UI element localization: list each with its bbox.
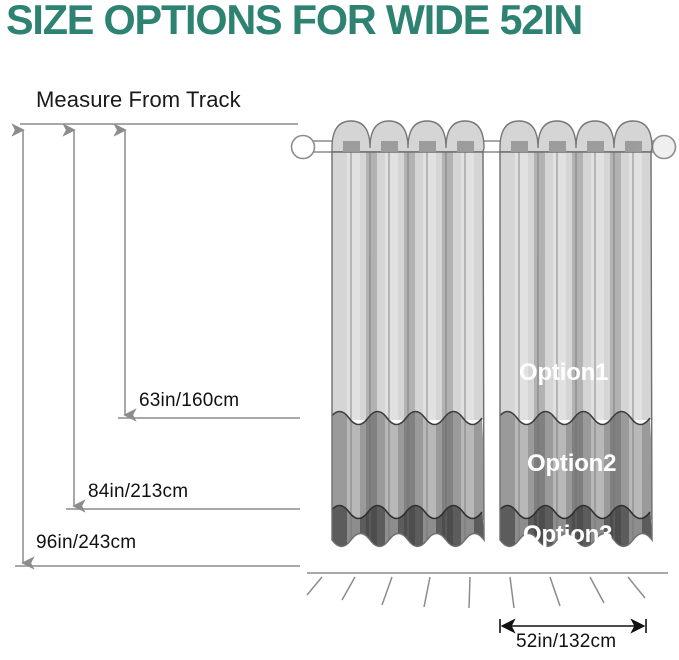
dimension-label-52in-width: 52in/132cm <box>516 631 616 653</box>
dimension-label-63in: 63in/160cm <box>139 390 239 412</box>
dimension-label-84in: 84in/213cm <box>88 481 188 503</box>
curtain-panel-right <box>498 118 655 562</box>
dimension-line-63in <box>118 130 300 418</box>
option-label-3: Option3 <box>523 521 612 549</box>
floor-line <box>307 573 668 608</box>
size-options-diagram: SIZE OPTIONS FOR WIDE 52IN Measure From … <box>0 0 679 660</box>
option-label-1: Option1 <box>519 359 608 387</box>
dimension-label-96in: 96in/243cm <box>36 532 136 554</box>
curtain-panel-left <box>330 118 487 562</box>
option-label-2: Option2 <box>527 450 616 478</box>
curtain-diagram-graphic <box>0 0 679 660</box>
dimension-line-84in <box>66 130 300 509</box>
